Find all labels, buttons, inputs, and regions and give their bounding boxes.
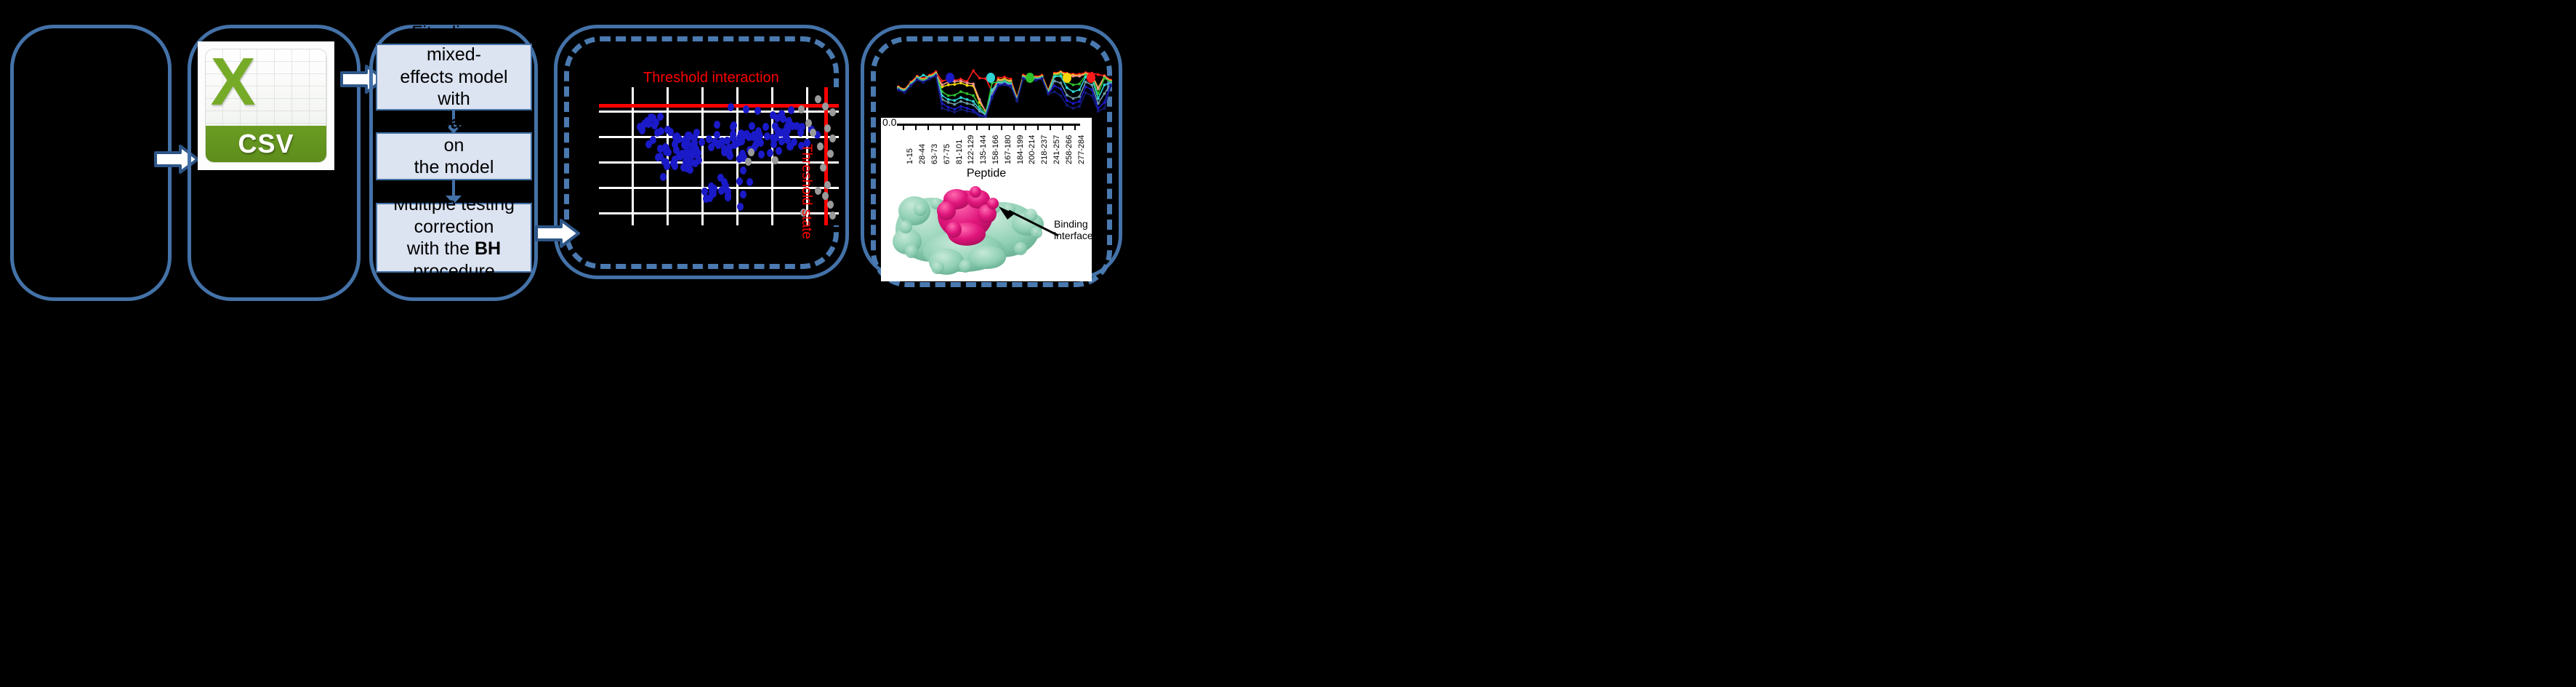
scatter-point-nonsignificant [827,150,834,158]
line-marker [966,84,969,87]
scatter-point-nonsignificant [827,201,834,209]
peptide-tick-label: 258-266 [1065,135,1074,164]
peptide-tick-label: 67-75 [943,144,951,164]
axis-tick-mark [940,124,941,130]
peptide-tick-label: 63-73 [930,144,939,164]
line-marker [1078,95,1081,98]
line-marker [1072,107,1075,110]
line-marker [916,79,919,81]
line-marker [1010,86,1013,89]
peptide-tick-label: 81-101 [955,140,964,164]
line-marker [959,90,962,93]
line-marker [978,77,981,80]
line-marker [991,89,994,92]
step-correction-box[interactable]: Multiple testing correction with the BH … [376,203,532,273]
line-marker [953,108,956,111]
scatter-point-significant [788,106,794,114]
line-marker [1078,83,1081,86]
line-marker [928,78,931,81]
binding-interface-arrow-icon [996,205,1061,241]
line-marker [953,83,956,86]
line-marker [1084,86,1087,89]
scatter-point-significant [772,122,778,130]
line-marker [966,81,969,84]
csv-icon-body: X CSV [205,49,327,163]
step-correction-line1: Multiple testing [393,194,515,214]
line-marker [947,84,950,87]
scatter-point-significant [673,134,680,142]
axis-tick-mark [989,124,990,130]
peptide-line-chart [895,65,1114,120]
step-model-box[interactable]: Fit a linear mixed- effects model with R… [376,44,532,111]
scatter-point-significant [736,177,743,185]
scatter-point-significant [762,123,769,131]
line-marker [972,103,975,106]
line-marker [1053,90,1056,93]
peptide-tick-label: 200-214 [1028,135,1037,164]
legend-dot-cyan [986,73,995,83]
scatter-point-significant [727,152,733,160]
line-marker [1097,110,1100,113]
line-marker [1072,90,1075,93]
line-marker [972,83,975,86]
line-marker [1066,94,1068,97]
scatter-point-significant [725,193,731,201]
scatter-point-significant [784,126,791,134]
line-marker [1072,102,1075,105]
scatter-point-significant [639,126,645,134]
step-correction-tail3: procedure [413,261,495,281]
line-marker [897,89,900,92]
axis-tick-mark [1062,124,1063,130]
scatter-point-nonsignificant [815,187,821,195]
axis-tick-mark [1013,124,1015,130]
scatter-point-significant [690,142,696,150]
line-marker [997,84,1000,87]
peptide-tick-label: 122-129 [967,135,975,164]
line-marker [959,105,962,108]
data-source-panel [10,25,172,301]
scatter-point-significant [778,110,785,118]
scatter-point-nonsignificant [805,119,812,127]
scatter-point-significant [758,150,765,158]
y-axis-tick-label: 0.0 [882,118,896,128]
line-marker [909,84,912,87]
line-marker [972,95,975,97]
scatter-point-nonsignificant [829,134,836,142]
scatter-point-significant [778,137,785,145]
line-marker [1066,99,1068,102]
line-marker [959,108,962,111]
axis-tick-mark [915,124,917,130]
line-marker [1078,105,1081,108]
line-marker [1059,81,1062,84]
line-marker [978,98,981,101]
csv-file-icon[interactable]: X CSV [198,41,334,170]
scatter-point-significant [728,103,734,111]
line-marker [922,73,925,76]
axis-tick-mark [1037,124,1039,130]
line-marker [966,102,969,105]
line-marker [1053,75,1056,78]
line-marker [1047,93,1050,96]
line-marker [1078,75,1081,78]
line-marker [978,110,981,113]
line-marker [941,107,943,110]
peptide-tick-label: 28-44 [918,144,927,164]
line-marker [1072,75,1075,78]
line-marker [1084,81,1087,84]
peptide-tick-label: 277-284 [1077,135,1086,164]
peptide-tick-label: 218-237 [1040,135,1049,164]
line-marker [1022,78,1025,81]
scatter-point-significant [799,123,805,131]
axis-tick-mark [976,124,978,130]
axis-tick-mark [1050,124,1051,130]
line-marker [953,111,956,113]
axis-tick-mark [964,124,965,130]
csv-label: CSV [206,126,326,162]
step-model-line2: effects model with [400,67,507,110]
line-marker [1015,100,1018,103]
axis-tick-mark [927,124,929,130]
scatter-threshold-interaction-label: Threshold interaction [643,70,779,87]
line-marker [953,94,956,97]
scatter-point-nonsignificant [829,108,836,116]
line-marker [947,101,950,104]
excel-x-letter: X [211,54,254,117]
scatter-point-significant [681,141,688,149]
scatter-point-significant [685,157,691,165]
step-wald-lead: Apply [384,113,434,133]
legend-dot-red [1087,73,1095,83]
line-marker [1103,84,1106,87]
scatter-point-nonsignificant [772,156,778,164]
line-marker [1090,84,1093,87]
step-correction-line2: correction [414,217,494,237]
line-marker [966,107,969,110]
scatter-point-significant [663,158,669,166]
scatter-point-significant [767,149,773,157]
line-marker [1053,84,1056,87]
step-correction-lead3: with the [407,238,475,259]
line-marker [1066,87,1068,89]
scatter-point-significant [714,131,720,139]
line-marker [959,80,962,83]
line-marker [1072,84,1075,87]
line-marker [953,103,956,106]
arrow-analysis-to-results [535,218,580,249]
line-marker [972,69,975,72]
line-marker [1097,73,1100,76]
line-marker [1059,75,1062,78]
line-marker [959,96,962,99]
binding-interface-line2: interface [1054,230,1092,241]
line-marker [1041,78,1044,81]
line-marker [1066,104,1068,107]
line-marker [1078,100,1081,103]
peptide-axis-and-structure-inset: 0.0 1-1528-4463-7367-7581-101122-129135-… [881,118,1092,281]
peptide-tick-label: 241-257 [1052,135,1061,164]
line-marker [1003,84,1006,87]
line-marker [1059,95,1062,97]
binding-interface-annotation: Binding interface [1054,218,1092,241]
line-marker [959,100,962,103]
line-marker [1053,80,1056,83]
line-marker [1090,95,1093,97]
line-marker [1103,107,1106,110]
line-marker [941,84,943,87]
line-marker [1078,89,1081,92]
peptide-tick-label: 158-166 [991,135,1000,164]
axis-tick-mark [903,124,904,130]
scatter-point-nonsignificant [829,212,836,220]
scatter-point-significant [738,129,744,137]
axis-tick-mark [1025,124,1026,130]
step-wald-box[interactable]: Apply Wald tests on the model parameters [376,132,532,180]
step-wald-bold: Wald tests [434,113,524,133]
scatter-point-significant [657,113,664,121]
scatter-point-significant [699,138,705,146]
scatter-point-significant [650,136,656,144]
scatter-point-significant [687,166,693,174]
line-marker [1059,87,1062,90]
scatter-point-significant [701,188,708,196]
line-marker [953,99,956,102]
x-axis-title: Peptide [881,167,1092,180]
step-wald-tail: on [444,135,464,156]
line-marker [903,92,906,95]
line-marker [1090,89,1093,92]
legend-dot-green [1026,73,1034,83]
line-marker [1103,77,1106,80]
line-marker [978,115,981,118]
scatter-point-significant [757,139,764,147]
line-marker [966,98,969,101]
line-marker [972,100,975,103]
scatter-point-nonsignificant [820,164,826,172]
scatter-point-significant [730,123,736,131]
line-marker [1109,84,1112,87]
axis-tick-mark [1001,124,1002,130]
line-marker [947,98,950,101]
legend-dot-yellow [1063,73,1071,83]
line-marker [966,110,969,113]
peptide-tick-label: 184-199 [1016,135,1025,164]
line-marker [941,80,943,83]
scatter-point-significant [776,147,782,155]
peptide-tick-labels: 1-1528-4463-7367-7581-101122-129135-1441… [897,131,1080,164]
line-marker [922,81,925,84]
scatter-point-significant [657,153,664,161]
line-marker [947,95,950,97]
scatter-point-nonsignificant [822,103,829,111]
binding-interface-line1: Binding [1054,218,1092,230]
line-marker [935,75,938,78]
peptide-tick-label: 167-180 [1004,135,1013,164]
scatter-point-significant [707,194,713,202]
scatter-point-nonsignificant [798,105,805,113]
step-correction-bold: BH [475,238,501,259]
axis-tick-mark [952,124,954,130]
line-marker [1084,92,1087,95]
line-marker [947,106,950,109]
scatter-threshold-state-label: Threshold state [798,144,814,239]
peptide-tick-label: 135-144 [979,135,988,164]
axis-tick-mark [1074,124,1076,130]
scatter-point-significant [664,126,671,134]
peptide-tick-label: 1-15 [906,148,914,164]
line-marker [991,97,994,100]
line-marker [966,92,969,95]
line-marker [1034,79,1037,82]
line-marker [947,109,950,112]
scatter-point-nonsignificant [748,148,754,156]
step-model-line1: Fit a linear mixed- [411,23,496,65]
line-marker [1072,97,1075,100]
line-marker [972,111,975,113]
line-marker [1103,92,1106,95]
workflow-diagram: X CSV Fit a linear mixed- effects model … [0,0,2576,687]
legend-dot-blue [946,73,954,83]
